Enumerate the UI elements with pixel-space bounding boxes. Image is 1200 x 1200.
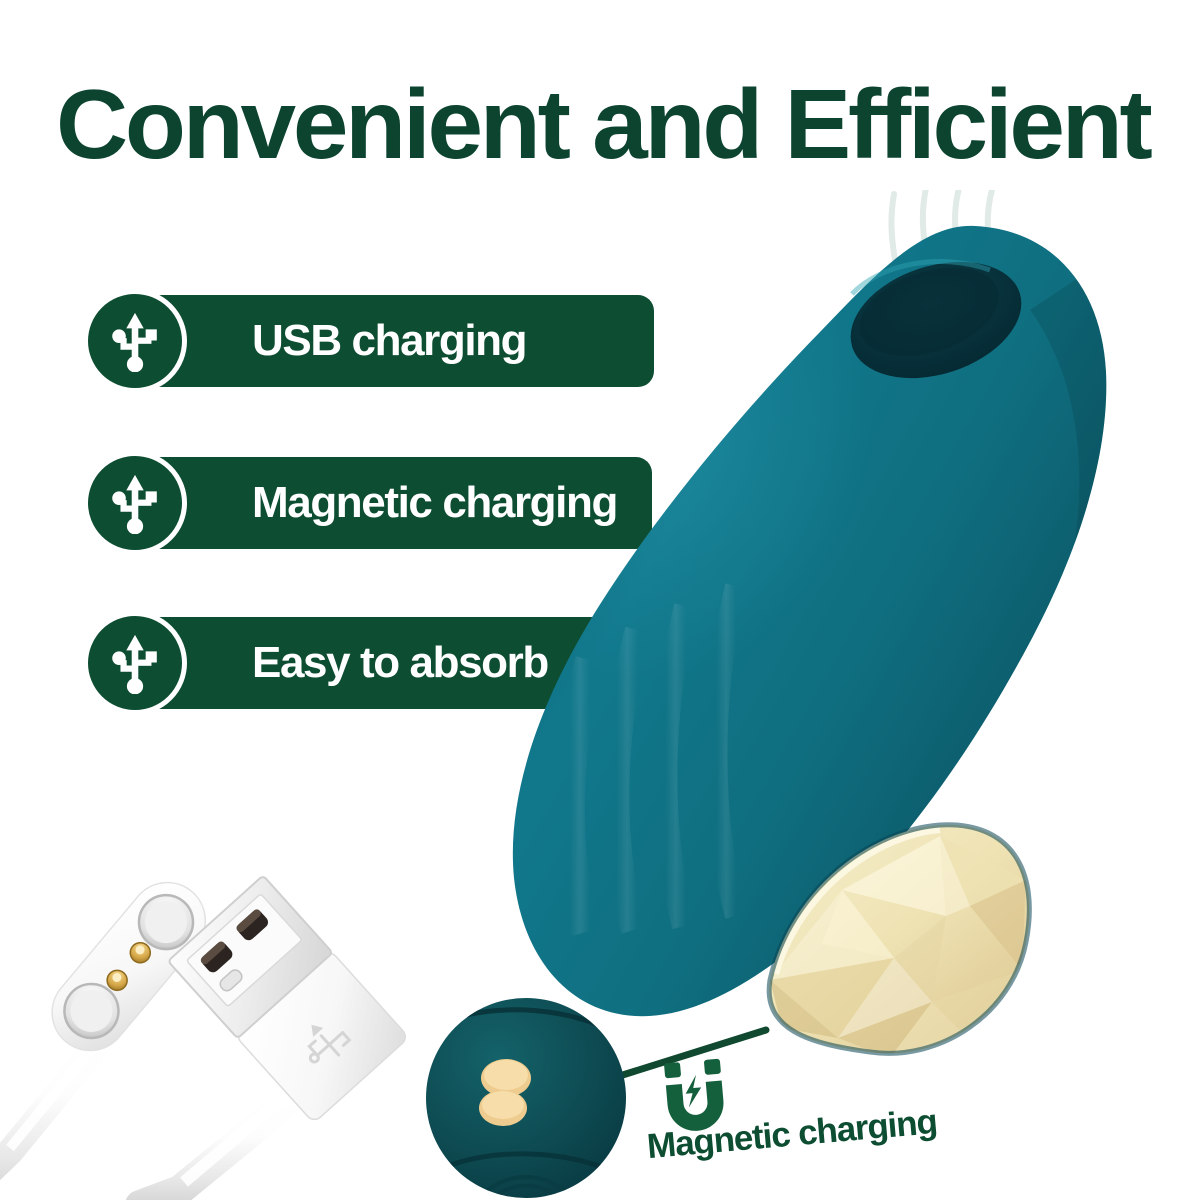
usb-icon bbox=[83, 289, 187, 393]
product-image bbox=[470, 190, 1200, 1090]
product-feature-banner: Convenient and Efficient USB charging bbox=[0, 0, 1200, 1200]
magnetic-contacts-callout bbox=[424, 996, 628, 1200]
magnetic-charger-head bbox=[0, 867, 221, 1196]
usb-icon bbox=[83, 451, 187, 555]
usb-magnetic-charging-cable bbox=[0, 860, 490, 1200]
usb-icon bbox=[83, 611, 187, 715]
page-title: Convenient and Efficient bbox=[56, 72, 1178, 176]
magnetic-charging-label: Magnetic charging bbox=[640, 1035, 951, 1200]
